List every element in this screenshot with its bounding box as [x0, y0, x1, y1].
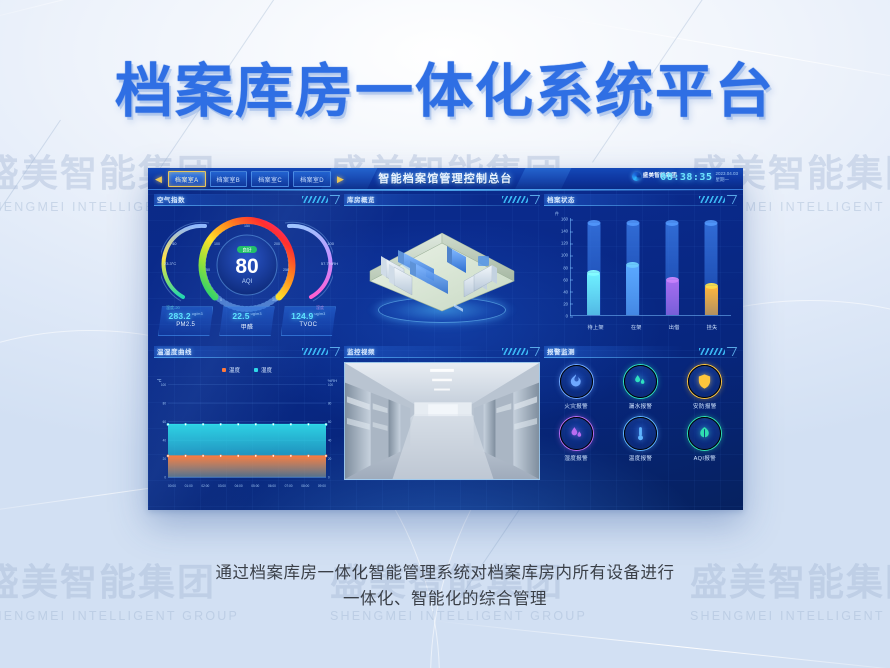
- air-gauge-area: 40 23.3°C 温度-20 100 57.7%RH 湿度: [154, 209, 340, 319]
- metric-label-pm25: PM2.5: [159, 322, 212, 328]
- panel-header: 报警监测: [544, 346, 737, 358]
- svg-text:AQI: AQI: [242, 279, 253, 285]
- panel-underline: [154, 357, 340, 358]
- bar-y-tick: 0: [550, 314, 568, 319]
- humidity-current-value: 57.7%RH: [321, 261, 338, 266]
- archive-status-bar-chart: 件 020406080100120140160 待上架在架出借挂失: [544, 209, 737, 335]
- panel-title-warehouse: 库房概览: [347, 194, 375, 204]
- page-title: 档案库房一体化系统平台: [115, 44, 775, 128]
- bar-y-tick: 60: [550, 277, 568, 282]
- legend-label-temperature: 温度: [229, 366, 240, 374]
- line-chart-y2-tick: 40: [328, 439, 332, 443]
- line-chart-point[interactable]: [184, 423, 186, 425]
- line-chart-point[interactable]: [325, 423, 327, 425]
- line-chart-point[interactable]: [237, 455, 239, 457]
- panel-hatch-decor-icon: [302, 196, 328, 203]
- bar-y-tick: 120: [550, 241, 568, 246]
- alarm-label: 湿度报警: [544, 454, 608, 462]
- line-chart-y-tick: 100: [161, 383, 166, 387]
- line-chart-legend: 温度 湿度: [154, 366, 340, 374]
- thermometer-icon: [632, 425, 649, 442]
- tab-room-c[interactable]: 档案室C: [251, 171, 289, 187]
- line-chart-y-tick: 20: [163, 457, 167, 461]
- line-chart-x-label: 02:00: [201, 484, 209, 488]
- alarm-grid: 火灾报警漏水报警安防报警湿度报警温度报警AQI报警: [544, 364, 737, 462]
- temp-current-value: 23.3°C: [164, 261, 176, 266]
- line-chart-point[interactable]: [272, 423, 274, 425]
- temp-scale-max: 40: [172, 241, 176, 246]
- panel-title-status: 档案状态: [547, 194, 575, 204]
- bar-y-tick: 140: [550, 229, 568, 234]
- alarm-indicator-dot: [575, 364, 577, 366]
- line-chart-y-tick: 60: [163, 420, 167, 424]
- alarm-ring[interactable]: [623, 416, 658, 451]
- alarm-label: 火灾报警: [544, 402, 608, 410]
- line-chart-point[interactable]: [220, 423, 222, 425]
- metric-number: 22.5: [232, 311, 249, 321]
- panel-hatch-decor-icon: [502, 348, 528, 355]
- line-chart-x-label: 03:00: [218, 484, 226, 488]
- line-chart-x-label: 06:00: [268, 484, 276, 488]
- line-chart-x-label: 05:00: [251, 484, 259, 488]
- metric-value-pm25: 283.2ug/m3: [159, 311, 212, 321]
- humidity-icon: [568, 425, 585, 442]
- line-chart-point[interactable]: [202, 455, 204, 457]
- metric-label-formaldehyde: 甲醛: [220, 322, 273, 331]
- line-chart-y-tick: 0: [164, 476, 166, 480]
- bar-x-label: 挂失: [707, 324, 718, 331]
- line-chart-y-tick: 80: [163, 402, 167, 406]
- page-caption: 通过档案库房一体化智能管理系统对档案库房内所有设备进行 一体化、智能化的综合管理: [0, 561, 890, 612]
- bar-y-tick: 40: [550, 289, 568, 294]
- dashboard-title: 智能档案馆管理控制总台: [378, 170, 512, 186]
- alarm-ring[interactable]: [687, 416, 722, 451]
- svg-text:100: 100: [214, 242, 220, 246]
- panel-alarm-monitoring: 报警监测 火灾报警漏水报警安防报警湿度报警温度报警AQI报警: [544, 346, 737, 498]
- bar-y-tick: 160: [550, 217, 568, 222]
- svg-text:300: 300: [272, 298, 278, 302]
- line-chart-y-tick: 40: [163, 439, 167, 443]
- metric-card-formaldehyde: 22.5ug/m3 甲醛: [219, 306, 274, 336]
- line-chart-point[interactable]: [220, 455, 222, 457]
- line-chart-point[interactable]: [202, 423, 204, 425]
- metric-unit: ug/m3: [192, 312, 203, 316]
- bar-x-label: 在架: [631, 324, 642, 331]
- tick-mark: [570, 280, 573, 281]
- legend-item-humidity[interactable]: 湿度: [254, 366, 272, 374]
- panel-header: 库房概览: [344, 194, 540, 206]
- metric-number: 124.9: [291, 311, 313, 321]
- line-chart-x-label: 07:00: [285, 484, 293, 488]
- alarm-label: 安防报警: [673, 402, 737, 410]
- tick-mark: [570, 316, 573, 317]
- alarm-item-leaf[interactable]: AQI报警: [673, 416, 737, 462]
- svg-text:80: 80: [235, 255, 258, 278]
- line-chart-point[interactable]: [255, 455, 257, 457]
- line-chart-x-label: 09:00: [318, 484, 326, 488]
- panel-header: 档案状态: [544, 194, 737, 206]
- leaf-icon: [696, 425, 713, 442]
- bar-column[interactable]: [665, 219, 680, 315]
- bar-column[interactable]: [704, 219, 719, 315]
- svg-text:0: 0: [220, 298, 222, 302]
- panel-air-quality: 空气指数 40 23.3°C 温度-20: [154, 194, 340, 340]
- bar-fill: [705, 286, 718, 315]
- panel-video-monitor: 监控视频: [344, 346, 540, 498]
- bar-column[interactable]: [625, 219, 640, 315]
- line-chart-point[interactable]: [290, 423, 292, 425]
- dashboard-header: ◀ 档案室A 档案室B 档案室C 档案室D ▶ 智能档案馆管理控制总台 盛美智能…: [148, 168, 743, 190]
- line-chart-x-label: 08:00: [301, 484, 309, 488]
- line-chart-point[interactable]: [307, 423, 309, 425]
- line-chart-point[interactable]: [272, 455, 274, 457]
- line-chart-canvas: 002020404060608080100100: [154, 376, 340, 488]
- metric-value-tvoc: 124.9ug/m3: [282, 311, 335, 321]
- clock-time: 08:38:35: [660, 172, 712, 183]
- line-chart-point[interactable]: [184, 455, 186, 457]
- bar-y-tick: 80: [550, 265, 568, 270]
- panel-underline: [154, 205, 340, 206]
- panel-header: 温湿度曲线: [154, 346, 340, 358]
- tick-mark: [570, 219, 573, 220]
- line-chart-area-温度: [168, 456, 326, 477]
- svg-text:良好: 良好: [242, 247, 252, 254]
- tick-mark: [570, 304, 573, 305]
- bar-column[interactable]: [586, 219, 601, 315]
- bar-chart-x-axis: [570, 315, 731, 316]
- line-chart-point[interactable]: [255, 423, 257, 425]
- tick-mark: [570, 292, 573, 293]
- svg-text:200: 200: [274, 242, 280, 246]
- dashboard-clock-area: 08:38:35 2023.04.03 星期一: [660, 171, 738, 183]
- bar-y-tick: 20: [550, 301, 568, 306]
- tab-room-d[interactable]: 档案室D: [293, 171, 331, 187]
- line-chart-point[interactable]: [307, 455, 309, 457]
- panel-header: 空气指数: [154, 194, 340, 206]
- alarm-indicator-dot: [639, 416, 641, 418]
- alarm-ring[interactable]: [687, 364, 722, 399]
- shield-icon: [696, 373, 713, 390]
- temp-humidity-line-chart: ℃ %RH 002020404060608080100100 00:0001:0…: [154, 376, 340, 488]
- dashboard-screenshot: ◀ 档案室A 档案室B 档案室C 档案室D ▶ 智能档案馆管理控制总台 盛美智能…: [148, 168, 743, 510]
- svg-text:150: 150: [244, 224, 250, 228]
- line-chart-point[interactable]: [290, 455, 292, 457]
- panel-title-air: 空气指数: [157, 194, 185, 204]
- panel-title-alarm: 报警监测: [547, 346, 575, 356]
- bar-chart-x-labels: 待上架在架出借挂失: [574, 324, 731, 331]
- bar-chart-columns: [574, 219, 731, 315]
- line-chart-y2-tick: 100: [328, 383, 333, 387]
- line-chart-y2-tick: 0: [328, 476, 330, 480]
- fire-icon: [568, 373, 585, 390]
- metric-unit: ug/m3: [314, 312, 325, 316]
- metric-card-tvoc: 124.9ug/m3 TVOC: [281, 306, 336, 336]
- panel-title-temphumid: 温湿度曲线: [157, 346, 192, 356]
- line-chart-x-label: 01:00: [185, 484, 193, 488]
- alarm-ring[interactable]: [559, 364, 594, 399]
- metric-value-formaldehyde: 22.5ug/m3: [220, 311, 273, 321]
- metric-unit: ug/m3: [251, 312, 262, 316]
- bar-fill: [587, 273, 600, 315]
- bar-y-tick: 100: [550, 253, 568, 258]
- humidity-scale-max: 100: [327, 241, 334, 246]
- legend-swatch-humidity: [254, 368, 258, 372]
- line-chart-point[interactable]: [167, 455, 169, 457]
- tick-mark: [570, 231, 573, 232]
- prev-room-icon[interactable]: ◀: [153, 175, 164, 184]
- panel-header: 监控视频: [344, 346, 540, 358]
- alarm-ring[interactable]: [623, 364, 658, 399]
- line-chart-x-label: 00:00: [168, 484, 176, 488]
- line-chart-y2-tick: 80: [328, 402, 332, 406]
- clock-date-area: 2023.04.03 星期一: [715, 171, 738, 183]
- tick-mark: [570, 255, 573, 256]
- line-chart-x-labels: 00:0001:0002:0003:0004:0005:0006:0007:00…: [168, 484, 326, 488]
- alarm-item-shield[interactable]: 安防报警: [673, 364, 737, 410]
- alarm-item-fire[interactable]: 火灾报警: [544, 364, 608, 410]
- panel-temp-humidity: 温湿度曲线 温度 湿度 ℃ %RH: [154, 346, 340, 498]
- water-drop-icon: [632, 373, 649, 390]
- legend-item-temperature[interactable]: 温度: [222, 366, 240, 374]
- alarm-label: 漏水报警: [608, 402, 672, 410]
- alarm-indicator-dot: [575, 416, 577, 418]
- bar-x-label: 待上架: [588, 324, 604, 331]
- metric-card-pm25: 283.2ug/m3 PM2.5: [158, 306, 213, 336]
- svg-text:50: 50: [206, 268, 210, 272]
- line-chart-point[interactable]: [325, 455, 327, 457]
- bar-fill: [666, 280, 679, 315]
- alarm-item-thermometer[interactable]: 温度报警: [608, 416, 672, 462]
- panel-archive-status: 档案状态 件 020406080100120140160 待上架在架出借挂失: [544, 194, 737, 340]
- alarm-item-humidity[interactable]: 湿度报警: [544, 416, 608, 462]
- alarm-indicator-dot: [639, 364, 641, 366]
- header-bevel-right: [514, 168, 571, 190]
- video-corridor-image: [345, 363, 539, 479]
- panel-underline: [544, 357, 737, 358]
- page-title-wrapper: 档案库房一体化系统平台: [0, 44, 890, 128]
- alarm-label: 温度报警: [608, 454, 672, 462]
- bar-x-label: 出借: [669, 324, 680, 331]
- caption-line-2: 一体化、智能化的综合管理: [0, 587, 890, 613]
- line-chart-point[interactable]: [167, 423, 169, 425]
- tick-mark: [570, 243, 573, 244]
- panel-hatch-decor-icon: [302, 348, 328, 355]
- warehouse-3d-stage[interactable]: [344, 209, 540, 337]
- legend-swatch-temperature: [222, 368, 226, 372]
- alarm-item-water-drop[interactable]: 漏水报警: [608, 364, 672, 410]
- bar-fill: [626, 265, 639, 315]
- line-chart-point[interactable]: [237, 423, 239, 425]
- line-chart-y2-tick: 60: [328, 420, 332, 424]
- panel-title-video: 监控视频: [347, 346, 375, 356]
- clock-weekday: 星期一: [715, 177, 738, 183]
- panel-warehouse-overview: 库房概览: [344, 194, 540, 340]
- metric-number: 283.2: [169, 311, 191, 321]
- alarm-indicator-dot: [704, 416, 706, 418]
- next-room-icon[interactable]: ▶: [335, 175, 346, 184]
- brand-mark-icon: [632, 172, 641, 181]
- tab-room-a[interactable]: 档案室A: [168, 171, 206, 187]
- alarm-label: AQI报警: [673, 454, 737, 462]
- tick-mark: [570, 268, 573, 269]
- aqi-dial-gauge: 80 AQI 良好 150 100 200 50 250 0 300: [195, 213, 299, 317]
- line-chart-y2-tick: 20: [328, 457, 332, 461]
- air-metric-cards: 283.2ug/m3 PM2.5 22.5ug/m3 甲醛 124.9ug/m3…: [158, 306, 336, 336]
- line-chart-x-label: 04:00: [235, 484, 243, 488]
- panel-hatch-decor-icon: [699, 196, 725, 203]
- alarm-ring[interactable]: [559, 416, 594, 451]
- tab-room-b[interactable]: 档案室B: [210, 171, 248, 187]
- panel-underline: [544, 205, 737, 206]
- panel-hatch-decor-icon: [502, 196, 528, 203]
- metric-label-tvoc: TVOC: [282, 322, 335, 328]
- svg-text:250: 250: [283, 268, 289, 272]
- panel-underline: [344, 357, 540, 358]
- video-feed[interactable]: [344, 362, 540, 480]
- warehouse-3d-model[interactable]: [364, 225, 520, 317]
- panel-hatch-decor-icon: [699, 348, 725, 355]
- alarm-indicator-dot: [704, 364, 706, 366]
- caption-line-1: 通过档案库房一体化智能管理系统对档案库房内所有设备进行: [0, 561, 890, 587]
- panel-underline: [344, 205, 540, 206]
- legend-label-humidity: 湿度: [261, 366, 272, 374]
- room-tabs[interactable]: ◀ 档案室A 档案室B 档案室C 档案室D ▶: [153, 168, 346, 190]
